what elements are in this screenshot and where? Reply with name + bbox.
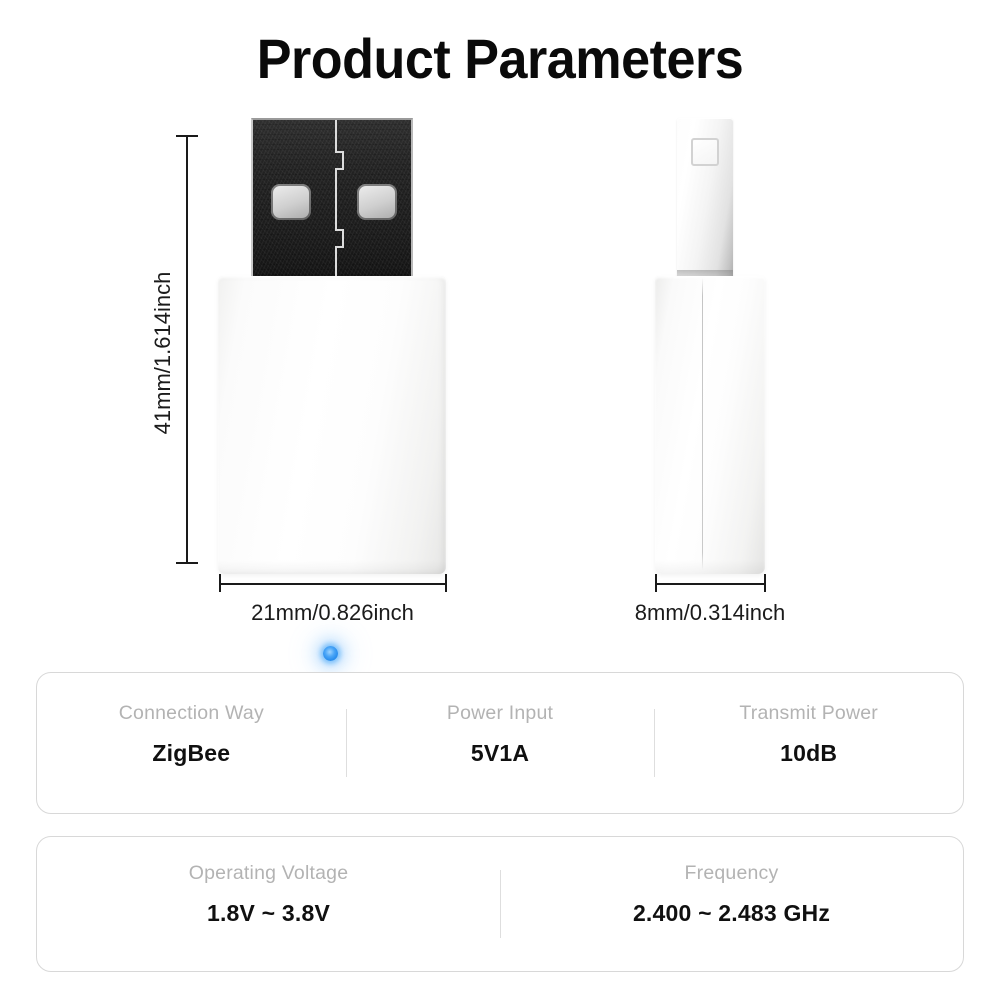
spec-label: Transmit Power <box>739 702 878 725</box>
spec-label: Connection Way <box>119 702 264 725</box>
usb-shell-seam <box>329 118 343 280</box>
dongle-housing-side <box>655 276 765 574</box>
spec-cell-frequency: Frequency 2.400 ~ 2.483 GHz <box>500 827 963 981</box>
spec-cell-power-input: Power Input 5V1A <box>346 664 655 822</box>
page-title: Product Parameters <box>35 26 965 91</box>
usb-a-connector-front <box>251 118 413 280</box>
spec-value: 10dB <box>780 740 837 767</box>
status-led-indicator <box>323 646 338 661</box>
dimension-cap-width-front-left <box>219 574 221 592</box>
dimension-cap-width-front-right <box>445 574 447 592</box>
dimension-label-width-front: 21mm/0.826inch <box>218 600 447 626</box>
spec-card-primary: Connection Way ZigBee Power Input 5V1A T… <box>36 672 964 814</box>
spec-cell-connection-way: Connection Way ZigBee <box>37 664 346 822</box>
usb-shell-indent <box>691 138 719 166</box>
dimension-cap-height-bottom <box>176 562 198 564</box>
spec-row: Operating Voltage 1.8V ~ 3.8V Frequency … <box>37 837 963 971</box>
spec-label: Power Input <box>447 702 553 725</box>
spec-value: 2.400 ~ 2.483 GHz <box>633 900 830 927</box>
spec-value: ZigBee <box>152 740 230 767</box>
product-side-view <box>655 118 765 580</box>
spec-card-secondary: Operating Voltage 1.8V ~ 3.8V Frequency … <box>36 836 964 972</box>
spec-label: Operating Voltage <box>189 862 349 885</box>
spec-cell-operating-voltage: Operating Voltage 1.8V ~ 3.8V <box>37 827 500 981</box>
dimension-label-width-side: 8mm/0.314inch <box>600 600 820 626</box>
dimension-line-width-side <box>655 583 765 585</box>
usb-port-notch-right <box>357 184 397 220</box>
spec-row: Connection Way ZigBee Power Input 5V1A T… <box>37 673 963 813</box>
usb-a-connector-side <box>677 118 733 283</box>
dimension-cap-height-top <box>176 135 198 137</box>
dimension-cap-width-side-left <box>655 574 657 592</box>
spec-cell-transmit-power: Transmit Power 10dB <box>654 664 963 822</box>
dimension-line-width-front <box>219 583 446 585</box>
spec-value: 1.8V ~ 3.8V <box>207 900 330 927</box>
usb-port-notch-left <box>271 184 311 220</box>
dongle-housing-front <box>218 276 446 574</box>
spec-value: 5V1A <box>471 740 529 767</box>
product-image-area: 41mm/1.614inch 21mm/0.826inch 8mm/0.314i… <box>0 100 1000 645</box>
spec-label: Frequency <box>685 862 779 885</box>
dimension-line-height <box>186 136 188 563</box>
dimension-label-height: 41mm/1.614inch <box>150 253 176 453</box>
dimension-cap-width-side-right <box>764 574 766 592</box>
product-front-view <box>218 118 446 580</box>
